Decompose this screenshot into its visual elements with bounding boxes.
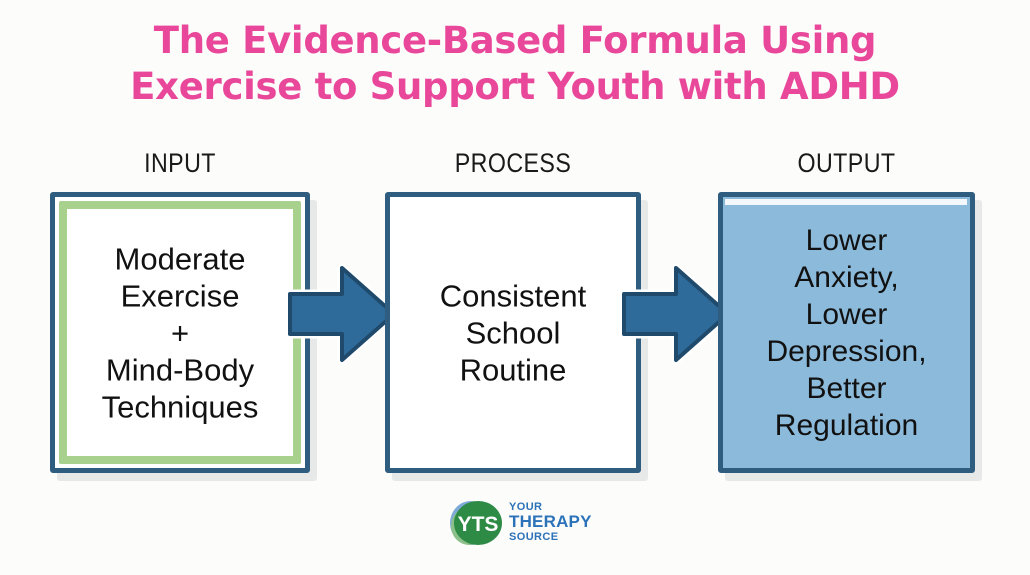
logo-word-source: SOURCE <box>509 531 592 543</box>
right-arrow-icon <box>622 262 732 366</box>
process-flow-diagram: INPUT PROCESS OUTPUT Moderate Exercise +… <box>0 0 1030 575</box>
output-line-3: Lower <box>729 296 964 333</box>
output-top-highlight <box>725 199 967 205</box>
output-line-6: Regulation <box>729 407 964 444</box>
input-line-1: Moderate <box>61 240 299 277</box>
brand-logo-wordmark: YOUR THERAPY SOURCE <box>509 501 592 543</box>
output-line-2: Anxiety, <box>729 259 964 296</box>
brand-logo[interactable]: YTS YOUR THERAPY SOURCE <box>447 498 597 550</box>
input-line-3: + <box>61 314 299 351</box>
stage-box-process-text: Consistent School Routine <box>390 277 636 388</box>
stage-label-process: PROCESS <box>403 148 623 179</box>
stage-box-output-text: Lower Anxiety, Lower Depression, Better … <box>723 222 970 444</box>
arrow-process-to-output <box>622 262 732 366</box>
yts-logo-icon: YTS <box>447 498 509 548</box>
input-line-4: Mind-Body <box>61 351 299 388</box>
stage-box-input-text: Moderate Exercise + Mind-Body Techniques <box>55 240 305 425</box>
output-line-4: Depression, <box>729 333 964 370</box>
input-line-2: Exercise <box>61 277 299 314</box>
output-line-1: Lower <box>729 222 964 259</box>
stage-box-input[interactable]: Moderate Exercise + Mind-Body Techniques <box>50 192 310 473</box>
stage-box-process[interactable]: Consistent School Routine <box>385 192 641 473</box>
stage-box-output[interactable]: Lower Anxiety, Lower Depression, Better … <box>718 192 975 473</box>
process-line-3: Routine <box>396 351 630 388</box>
stage-label-output: OUTPUT <box>736 148 957 179</box>
process-line-2: School <box>396 314 630 351</box>
input-line-5: Techniques <box>61 388 299 425</box>
arrow-input-to-process <box>288 262 398 366</box>
logo-word-therapy: THERAPY <box>509 513 592 531</box>
svg-text:YTS: YTS <box>458 513 499 536</box>
output-line-5: Better <box>729 370 964 407</box>
process-line-1: Consistent <box>396 277 630 314</box>
right-arrow-icon <box>288 262 398 366</box>
stage-label-input: INPUT <box>68 148 292 179</box>
